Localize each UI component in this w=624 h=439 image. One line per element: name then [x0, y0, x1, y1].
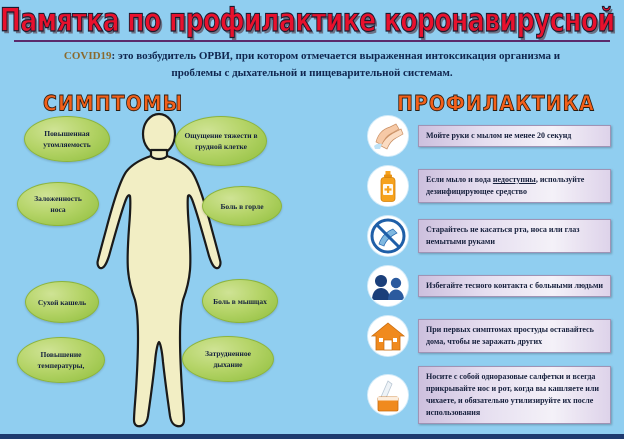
title-container: Памятка по профилактике коронавирусной и…: [0, 4, 624, 30]
prevention-text-before: Носите с собой одноразовые салфетки и вс…: [426, 372, 599, 417]
symptom-label: Сухой кашель: [38, 297, 86, 308]
symptom-label: Повышение температуры,: [26, 349, 96, 371]
subtitle-text: COVID19: это возбудитель ОРВИ, при котор…: [62, 48, 562, 82]
sanitizer-bottle-icon: [368, 166, 408, 206]
stay-home-icon: [368, 316, 408, 356]
symptom-label: Заложенность носа: [26, 193, 90, 215]
symptom-bubble-breathing-difficulty: Затрудненное дыхание: [182, 336, 274, 382]
symptom-bubble-fever: Повышение температуры,: [17, 337, 105, 383]
prevention-text: Избегайте тесного контакта с больными лю…: [418, 275, 611, 297]
symptom-bubble-muscle-pain: Боль в мышцах: [202, 279, 278, 323]
prevention-text-before: Мойте руки с мылом не менее 20 секунд: [426, 131, 571, 140]
symptom-bubble-nasal-congestion: Заложенность носа: [17, 182, 99, 226]
prevention-text: При первых симптомах простуды оставайтес…: [418, 319, 611, 353]
tissue-box-icon: [368, 375, 408, 415]
prevention-row: Носите с собой одноразовые салфетки и вс…: [368, 366, 618, 424]
prevention-text: Старайтесь не касаться рта, носа или гла…: [418, 219, 611, 253]
prevention-text: Если мыло и вода недоступны, используйте…: [418, 169, 611, 203]
prevention-text: Мойте руки с мылом не менее 20 секунд: [418, 125, 611, 147]
symptom-bubble-chest-heaviness: Ощущение тяжести в грудной клетке: [175, 116, 267, 166]
symptom-label: Затрудненное дыхание: [191, 348, 265, 370]
prevention-heading: ПРОФИЛАКТИКА: [397, 92, 595, 116]
washing-hands-icon: [368, 116, 408, 156]
prevention-row: Мойте руки с мылом не менее 20 секунд: [368, 116, 618, 156]
symptom-bubble-dry-cough: Сухой кашель: [25, 281, 99, 323]
prevention-text-before: Избегайте тесного контакта с больными лю…: [426, 281, 603, 290]
prevention-text: Носите с собой одноразовые салфетки и вс…: [418, 366, 611, 424]
no-face-touch-icon: [368, 216, 408, 256]
symptom-label: Ощущение тяжести в грудной клетке: [184, 130, 258, 152]
avoid-contact-people-icon: [368, 266, 408, 306]
symptom-label: Боль в горле: [220, 201, 263, 212]
prevention-text-before: При первых симптомах простуды оставайтес…: [426, 325, 594, 346]
prevention-text-before: Если мыло и вода: [426, 175, 493, 184]
prevention-row: Старайтесь не касаться рта, носа или гла…: [368, 216, 618, 256]
prevention-text-underlined: недоступны: [493, 175, 536, 184]
prevention-row: Если мыло и вода недоступны, используйте…: [368, 166, 618, 206]
prevention-text-before: Старайтесь не касаться рта, носа или гла…: [426, 225, 580, 246]
symptom-label: Повышенная утомляемость: [33, 128, 101, 150]
symptom-bubble-sore-throat: Боль в горле: [202, 186, 282, 226]
title-divider: [14, 40, 610, 42]
subtitle-body: : это возбудитель ОРВИ, при котором отме…: [112, 50, 561, 79]
subtitle-keyword: COVID19: [64, 50, 112, 62]
page-title: Памятка по профилактике коронавирусной и…: [0, 4, 624, 38]
symptom-bubble-fatigue: Повышенная утомляемость: [24, 116, 110, 162]
prevention-row: При первых симптомах простуды оставайтес…: [368, 316, 618, 356]
prevention-row: Избегайте тесного контакта с больными лю…: [368, 266, 618, 306]
covid-prevention-poster: Памятка по профилактике коронавирусной и…: [0, 0, 624, 439]
symptom-label: Боль в мышцах: [213, 296, 267, 307]
